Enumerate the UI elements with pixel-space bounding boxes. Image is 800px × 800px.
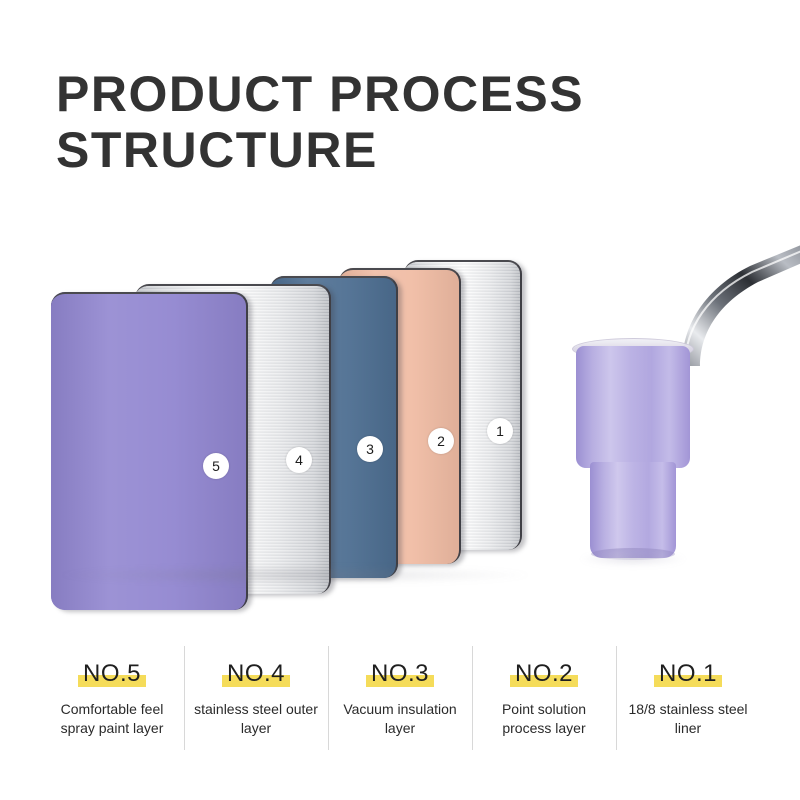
legend-item-no5[interactable]: NO.5 Comfortable feel spray paint layer (40, 652, 184, 762)
legend-row: NO.5 Comfortable feel spray paint layer … (40, 652, 760, 762)
layer-panel-5-face (51, 292, 248, 610)
layer-number-badge-5[interactable]: 5 (203, 453, 229, 479)
legend-no2-description: Point solution process layer (476, 700, 612, 738)
layer-number-badge-1[interactable]: 1 (487, 418, 513, 444)
legend-item-no2[interactable]: NO.2 Point solution process layer (472, 652, 616, 762)
page-title-line-1: PRODUCT PROCESS (56, 66, 656, 122)
legend-item-no1[interactable]: NO.1 18/8 stainless steel liner (616, 652, 760, 762)
layer-stack-ground-shadow (60, 566, 530, 584)
legend-no5-wrap: NO.5 (83, 660, 141, 688)
layer-panel-5[interactable] (51, 292, 248, 610)
legend-no3-label: NO.3 (371, 660, 429, 687)
legend-no2-label: NO.2 (515, 660, 573, 687)
layer-panel-5-sheen (51, 294, 246, 610)
legend-item-no3[interactable]: NO.3 Vacuum insulation layer (328, 652, 472, 762)
page-title-line-2: STRUCTURE (56, 122, 656, 178)
product-tumbler (560, 240, 800, 600)
tumbler-upper-body (576, 346, 690, 468)
legend-no4-label: NO.4 (227, 660, 285, 687)
legend-no1-wrap: NO.1 (659, 660, 717, 688)
layer-number-badge-3[interactable]: 3 (357, 436, 383, 462)
layer-number-badge-2[interactable]: 2 (428, 428, 454, 454)
legend-no1-description: 18/8 stainless steel liner (620, 700, 756, 738)
page-title: PRODUCT PROCESS STRUCTURE (56, 66, 656, 178)
tumbler-ground-shadow (580, 552, 686, 566)
legend-no3-wrap: NO.3 (371, 660, 429, 688)
legend-no5-description: Comfortable feel spray paint layer (44, 700, 180, 738)
legend-no2-wrap: NO.2 (515, 660, 573, 688)
legend-no5-label: NO.5 (83, 660, 141, 687)
legend-no3-description: Vacuum insulation layer (332, 700, 468, 738)
legend-no4-wrap: NO.4 (227, 660, 285, 688)
layer-number-badge-4[interactable]: 4 (286, 447, 312, 473)
layer-stack-diagram: 1 2 3 4 5 (0, 240, 560, 600)
legend-no4-description: stainless steel outer layer (188, 700, 324, 738)
legend-item-no4[interactable]: NO.4 stainless steel outer layer (184, 652, 328, 762)
tumbler-lower-body (590, 462, 676, 558)
legend-no1-label: NO.1 (659, 660, 717, 687)
